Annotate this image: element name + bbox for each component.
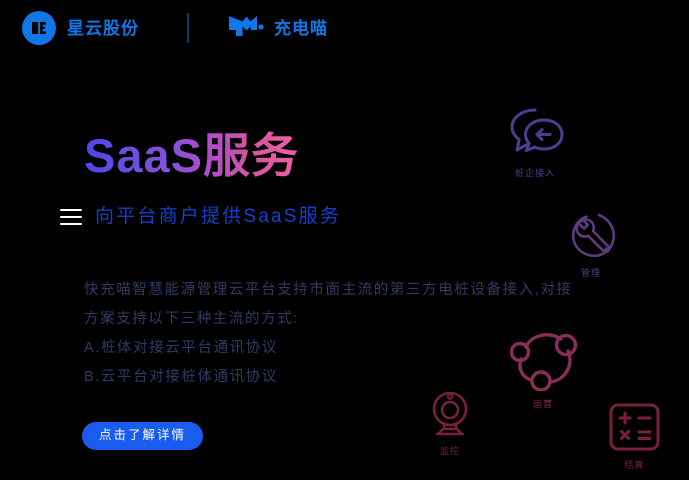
- brand-secondary-name: 充电喵: [274, 20, 328, 37]
- learn-more-button[interactable]: 点击了解详情: [82, 422, 203, 450]
- ne-circle-logo-icon: [22, 11, 56, 45]
- brand-divider: [187, 13, 189, 43]
- list-item: B.云平台对接桩体通讯协议: [84, 363, 278, 392]
- protocol-list: A.桩体对接云平台通讯协议 B.云平台对接桩体通讯协议: [84, 334, 278, 392]
- hamburger-menu-icon[interactable]: [60, 209, 82, 225]
- brand-primary-name: 星云股份: [67, 20, 139, 37]
- brand-secondary[interactable]: 充电喵: [227, 13, 328, 44]
- body-paragraph: 快充喵智慧能源管理云平台支持市面主流的第三方电桩设备接入,对接方案支持以下三种主…: [84, 276, 576, 334]
- cat-face-logo-icon: [227, 13, 265, 44]
- subheadline: 向平台商户提供SaaS服务: [95, 207, 341, 226]
- page-title: SaaS服务: [84, 130, 299, 182]
- subheadline-row: 向平台商户提供SaaS服务: [60, 207, 341, 226]
- top-header-bar: 星云股份 充电喵: [0, 0, 689, 56]
- brand-primary[interactable]: 星云股份: [22, 11, 139, 45]
- hero-content: SaaS服务 向平台商户提供SaaS服务 快充喵智慧能源管理云平台支持市面主流的…: [0, 0, 689, 480]
- list-item: A.桩体对接云平台通讯协议: [84, 334, 278, 363]
